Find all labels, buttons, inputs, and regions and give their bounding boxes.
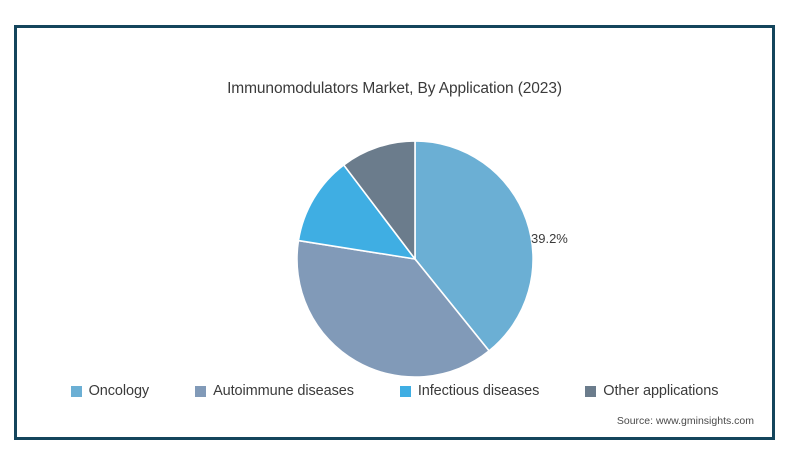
legend-swatch-icon-other-applications: [585, 386, 596, 397]
legend-label-autoimmune-diseases: Autoimmune diseases: [213, 383, 354, 399]
legend-item-other-applications[interactable]: Other applications: [585, 383, 718, 399]
legend-swatch-icon-oncology: [71, 386, 82, 397]
legend-swatch-icon-infectious-diseases: [400, 386, 411, 397]
pie-chart-area: 39.2%: [17, 28, 772, 437]
legend-label-other-applications: Other applications: [603, 383, 718, 399]
legend-item-oncology[interactable]: Oncology: [71, 383, 149, 399]
legend-item-autoimmune-diseases[interactable]: Autoimmune diseases: [195, 383, 354, 399]
pie-slices: [297, 141, 533, 377]
source-attribution: Source: www.gminsights.com: [617, 415, 754, 427]
legend-label-oncology: Oncology: [89, 383, 149, 399]
chart-frame: Immunomodulators Market, By Application …: [14, 25, 775, 440]
legend-swatch-icon-autoimmune-diseases: [195, 386, 206, 397]
pie-chart-svg: [269, 113, 561, 405]
chart-legend: Oncology Autoimmune diseases Infectious …: [17, 383, 772, 399]
legend-label-infectious-diseases: Infectious diseases: [418, 383, 539, 399]
legend-item-infectious-diseases[interactable]: Infectious diseases: [400, 383, 539, 399]
pie-slice-percentage-label: 39.2%: [531, 231, 568, 246]
